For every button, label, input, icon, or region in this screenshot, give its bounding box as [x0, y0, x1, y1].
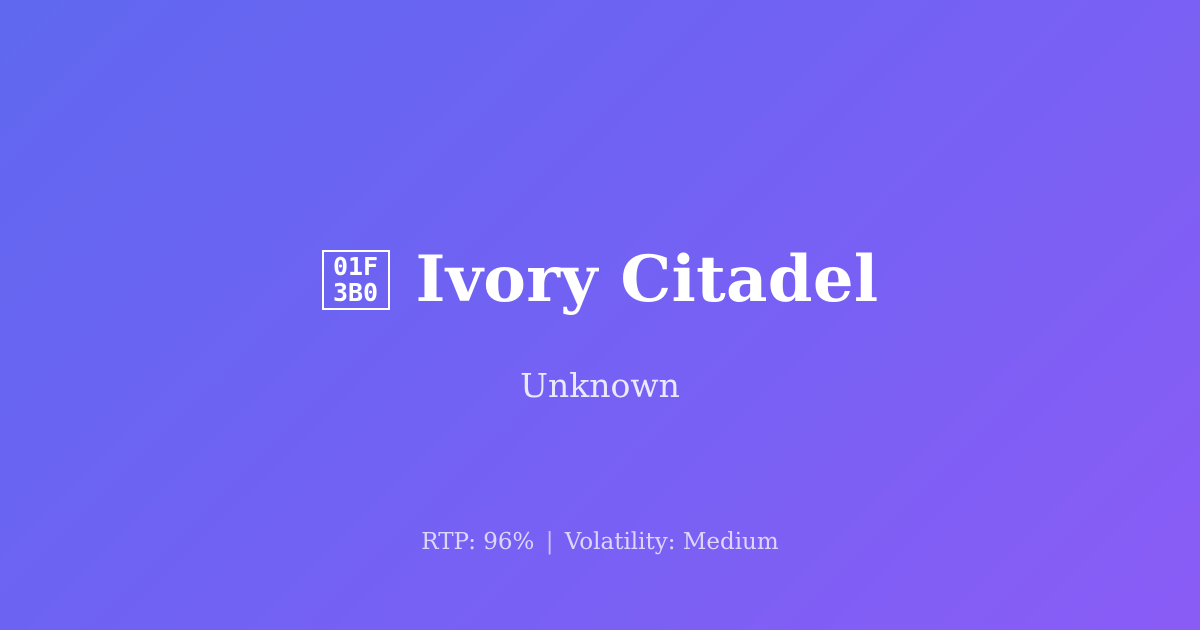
- game-title: Ivory Citadel: [416, 240, 879, 320]
- tofu-hex-row-bottom: 3B0: [333, 280, 378, 306]
- title-row: 01F 3B0 Ivory Citadel: [0, 232, 1200, 328]
- slot-machine-icon: 01F 3B0: [322, 250, 390, 310]
- tofu-hex-row-top: 01F: [333, 254, 378, 280]
- volatility-value: Medium: [683, 529, 779, 555]
- rtp-label: RTP:: [421, 529, 476, 555]
- game-provider: Unknown: [0, 362, 1200, 410]
- rtp-value: 96%: [483, 529, 534, 555]
- meta-separator: |: [542, 529, 558, 555]
- volatility-label: Volatility:: [565, 529, 676, 555]
- game-meta: RTP: 96% | Volatility: Medium: [0, 526, 1200, 558]
- game-preview-card: 01F 3B0 Ivory Citadel Unknown RTP: 96% |…: [0, 0, 1200, 630]
